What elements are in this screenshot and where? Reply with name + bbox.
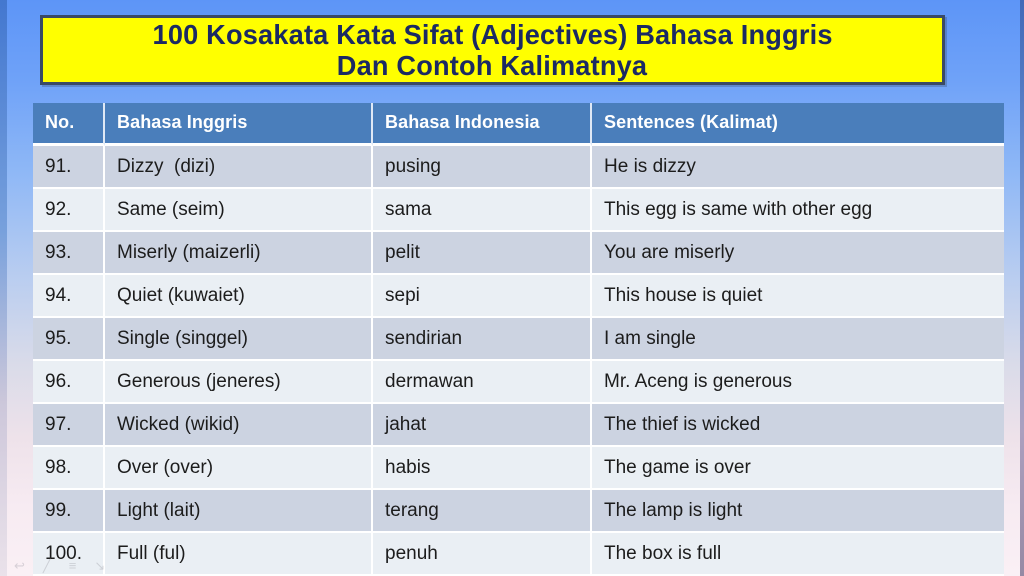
cell-sentence: The box is full [592, 533, 1004, 576]
cell-english: Dizzy (dizi) [105, 146, 373, 189]
cell-no: 91. [33, 146, 105, 189]
table-row: 95.Single (singgel)sendirianI am single [33, 318, 1004, 361]
column-header-indonesian: Bahasa Indonesia [373, 103, 592, 146]
cell-indonesian: sama [373, 189, 592, 232]
title-line-2: Dan Contoh Kalimatnya [337, 50, 647, 81]
cell-english: Light (lait) [105, 490, 373, 533]
cell-indonesian: pelit [373, 232, 592, 275]
cell-no: 97. [33, 404, 105, 447]
table-row: 99.Light (lait)terangThe lamp is light [33, 490, 1004, 533]
cell-no: 100. [33, 533, 105, 576]
cell-sentence: This egg is same with other egg [592, 189, 1004, 232]
cell-indonesian: sepi [373, 275, 592, 318]
column-header-sentence: Sentences (Kalimat) [592, 103, 1004, 146]
table-row: 91.Dizzy (dizi)pusingHe is dizzy [33, 146, 1004, 189]
cell-sentence: This house is quiet [592, 275, 1004, 318]
table-row: 100.Full (ful)penuhThe box is full [33, 533, 1004, 576]
cell-indonesian: penuh [373, 533, 592, 576]
cell-indonesian: sendirian [373, 318, 592, 361]
column-header-english: Bahasa Inggris [105, 103, 373, 146]
cell-english: Over (over) [105, 447, 373, 490]
cell-sentence: The lamp is light [592, 490, 1004, 533]
cell-sentence: He is dizzy [592, 146, 1004, 189]
title-line-1: 100 Kosakata Kata Sifat (Adjectives) Bah… [152, 19, 832, 50]
cell-english: Wicked (wikid) [105, 404, 373, 447]
cell-no: 93. [33, 232, 105, 275]
cell-sentence: The game is over [592, 447, 1004, 490]
cell-no: 92. [33, 189, 105, 232]
table-row: 94.Quiet (kuwaiet)sepiThis house is quie… [33, 275, 1004, 318]
table-header: No. Bahasa Inggris Bahasa Indonesia Sent… [33, 103, 1004, 146]
cell-sentence: You are miserly [592, 232, 1004, 275]
table-body: 91.Dizzy (dizi)pusingHe is dizzy92.Same … [33, 146, 1004, 576]
column-header-no: No. [33, 103, 105, 146]
cell-indonesian: pusing [373, 146, 592, 189]
cell-indonesian: habis [373, 447, 592, 490]
cell-no: 99. [33, 490, 105, 533]
cell-english: Single (singgel) [105, 318, 373, 361]
cell-english: Miserly (maizerli) [105, 232, 373, 275]
cell-no: 98. [33, 447, 105, 490]
cell-indonesian: jahat [373, 404, 592, 447]
cell-english: Full (ful) [105, 533, 373, 576]
cell-indonesian: terang [373, 490, 592, 533]
cell-english: Quiet (kuwaiet) [105, 275, 373, 318]
cell-no: 94. [33, 275, 105, 318]
cell-sentence: The thief is wicked [592, 404, 1004, 447]
table-row: 96.Generous (jeneres)dermawanMr. Aceng i… [33, 361, 1004, 404]
table-row: 98.Over (over)habisThe game is over [33, 447, 1004, 490]
table-row: 93.Miserly (maizerli)pelitYou are miserl… [33, 232, 1004, 275]
cell-no: 95. [33, 318, 105, 361]
cell-sentence: Mr. Aceng is generous [592, 361, 1004, 404]
cell-english: Generous (jeneres) [105, 361, 373, 404]
cell-no: 96. [33, 361, 105, 404]
cell-sentence: I am single [592, 318, 1004, 361]
title-banner: 100 Kosakata Kata Sifat (Adjectives) Bah… [40, 15, 945, 85]
table-header-row: No. Bahasa Inggris Bahasa Indonesia Sent… [33, 103, 1004, 146]
undo-arrow-icon: ↩ [14, 559, 25, 572]
vocabulary-table: No. Bahasa Inggris Bahasa Indonesia Sent… [33, 103, 1004, 576]
cell-indonesian: dermawan [373, 361, 592, 404]
slide-canvas: 100 Kosakata Kata Sifat (Adjectives) Bah… [0, 0, 1024, 576]
cell-english: Same (seim) [105, 189, 373, 232]
table-row: 92.Same (seim)samaThis egg is same with … [33, 189, 1004, 232]
table-row: 97.Wicked (wikid)jahatThe thief is wicke… [33, 404, 1004, 447]
